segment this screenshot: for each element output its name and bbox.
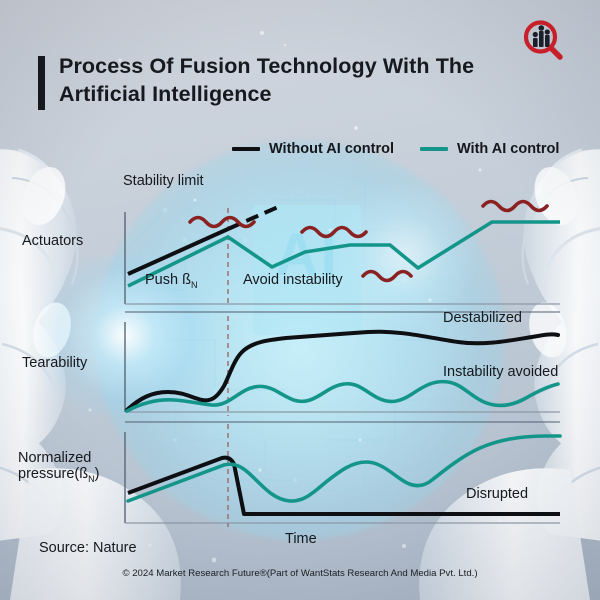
infographic-canvas: AI (0, 0, 600, 600)
annotation-disrupted: Disrupted (466, 486, 528, 502)
copyright-note: © 2024 Market Research Future®(Part of W… (0, 568, 600, 579)
source-note: Source: Nature (39, 540, 137, 556)
annotation-destabilized: Destabilized (443, 310, 522, 326)
axis-label-tearability: Tearability (22, 355, 87, 371)
instability-squiggle-4 (483, 202, 547, 211)
instability-squiggle-3 (363, 272, 411, 281)
annotation-push-bn: Push ßN (145, 272, 197, 290)
panel-actuators (125, 202, 560, 307)
axis-label-normalized-pressure: Normalizedpressure(ßN) (18, 450, 136, 487)
panel-normalized-pressure (125, 424, 560, 527)
annotation-stability-limit: Stability limit (123, 173, 204, 189)
axis-label-time: Time (285, 531, 317, 547)
instability-squiggle-2 (302, 228, 366, 237)
chart-group (0, 0, 600, 600)
annotation-avoid-instability: Avoid instability (243, 272, 343, 288)
annotation-instability-avoided: Instability avoided (443, 364, 558, 380)
annotation-push-bn-text: Push ß (145, 272, 191, 288)
axis-label-actuators: Actuators (22, 233, 83, 249)
panel1-series-without-ai (128, 229, 228, 274)
annotation-push-bn-subscript: N (191, 280, 198, 290)
instability-squiggle-1 (190, 218, 254, 227)
